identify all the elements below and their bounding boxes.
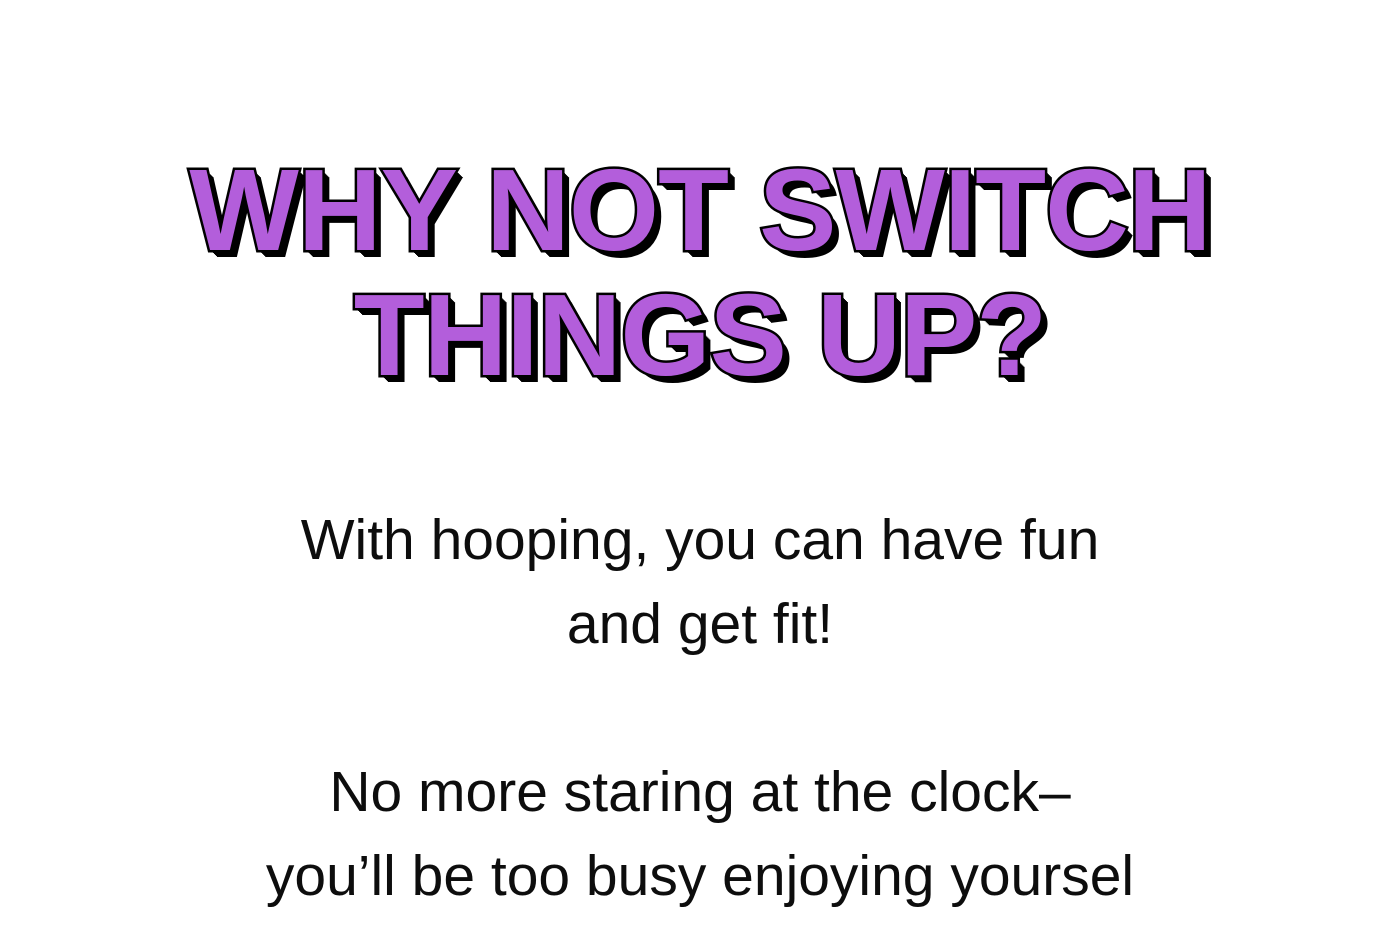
paragraph-2: No more staring at the clock– you’ll be …	[0, 750, 1400, 918]
headline-line-2: THINGS UP?	[0, 273, 1400, 398]
poster-canvas: WHY NOT SWITCH THINGS UP? With hooping, …	[0, 0, 1400, 934]
paragraph-1: With hooping, you can have fun and get f…	[0, 498, 1400, 666]
paragraph-1-line-1: With hooping, you can have fun	[0, 498, 1400, 582]
paragraph-1-line-2: and get fit!	[0, 582, 1400, 666]
paragraph-spacer	[0, 666, 1400, 750]
paragraph-2-line-1: No more staring at the clock–	[0, 750, 1400, 834]
paragraph-2-line-2: you’ll be too busy enjoying yoursel	[0, 834, 1400, 918]
headline: WHY NOT SWITCH THINGS UP?	[0, 148, 1400, 398]
headline-line-1: WHY NOT SWITCH	[0, 148, 1400, 273]
body-copy: With hooping, you can have fun and get f…	[0, 498, 1400, 918]
